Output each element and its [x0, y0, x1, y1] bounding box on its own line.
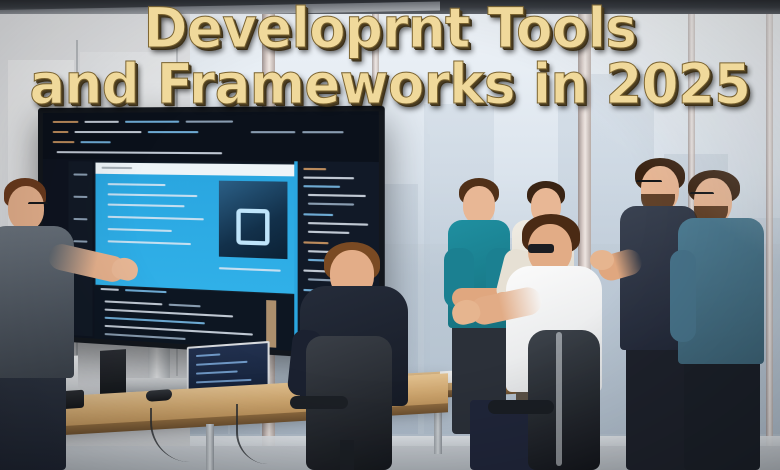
open-hand	[590, 250, 614, 270]
window-mullion	[766, 14, 773, 454]
arm-in-pocket	[670, 250, 696, 342]
glasses-icon	[636, 180, 662, 188]
terminal-panel	[43, 111, 379, 162]
head	[463, 186, 495, 224]
preview-image	[219, 181, 288, 259]
chair-rim	[556, 332, 562, 466]
desk-speaker	[100, 349, 126, 399]
legs	[0, 370, 66, 470]
glasses-icon	[690, 192, 714, 200]
legs	[684, 358, 760, 470]
glasses-icon	[528, 244, 554, 253]
chair-armrest	[488, 400, 554, 414]
chair-post	[340, 440, 354, 470]
header-image: Developrnt Tools and Frameworks in 2025	[0, 0, 780, 470]
glasses-icon	[28, 202, 48, 210]
chair-armrest	[290, 396, 348, 409]
desk-leg	[206, 424, 214, 470]
